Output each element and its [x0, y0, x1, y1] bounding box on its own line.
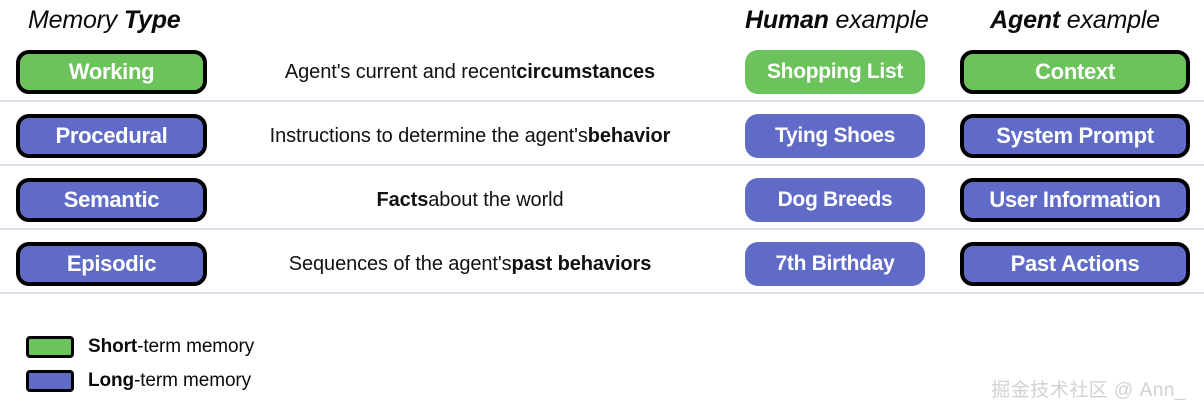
row-divider	[0, 100, 1204, 102]
legend-swatch-green	[26, 336, 74, 358]
row-divider	[0, 164, 1204, 166]
legend-label-short-bold: Short	[88, 336, 137, 357]
table-row: Semantic Facts about the world Dog Breed…	[0, 168, 1204, 232]
table-row: Procedural Instructions to determine the…	[0, 104, 1204, 168]
column-header-agent-bold: Agent	[990, 6, 1060, 34]
column-header-human-bold: Human	[745, 6, 829, 34]
row-divider	[0, 228, 1204, 230]
memory-type-pill: Working	[16, 50, 207, 94]
memory-description-plain: Sequences of the agent's	[289, 251, 512, 277]
column-header-human-normal: example	[835, 6, 928, 34]
memory-description-bold: Facts	[376, 187, 428, 213]
memory-description: Facts about the world	[215, 178, 725, 222]
column-header-memory-type-normal: Memory	[28, 6, 117, 34]
watermark: 掘金技术社区 @ Ann_	[991, 375, 1186, 402]
memory-description-plain: about the world	[428, 187, 563, 213]
agent-example-pill: Past Actions	[960, 242, 1190, 286]
table-row: Episodic Sequences of the agent's past b…	[0, 232, 1204, 296]
legend-label-long-rest: -term memory	[134, 370, 251, 391]
column-header-agent-example: Agent example	[960, 0, 1190, 40]
memory-description-plain: Agent's current and recent	[285, 59, 516, 85]
memory-description-bold: past behaviors	[511, 251, 651, 277]
memory-description-bold: behavior	[588, 123, 671, 149]
legend-label-long-bold: Long	[88, 370, 134, 391]
legend-label-short-term: Short-term memory	[88, 336, 254, 358]
column-header-memory-type: Memory Type	[28, 0, 180, 40]
column-header-memory-type-bold: Type	[124, 6, 181, 34]
agent-example-pill: System Prompt	[960, 114, 1190, 158]
memory-description: Agent's current and recent circumstances	[215, 50, 725, 94]
column-header-agent-normal: example	[1067, 6, 1160, 34]
agent-example-pill: User Information	[960, 178, 1190, 222]
legend-label-long-term: Long-term memory	[88, 370, 251, 392]
memory-description: Instructions to determine the agent's be…	[215, 114, 725, 158]
human-example-pill: Dog Breeds	[745, 178, 925, 222]
legend-item-long-term: Long-term memory	[26, 364, 446, 398]
table-header: Memory Type Human example Agent example	[0, 0, 1204, 40]
legend: Short-term memory Long-term memory	[26, 330, 446, 398]
memory-description-bold: circumstances	[516, 59, 655, 85]
memory-type-pill: Procedural	[16, 114, 207, 158]
column-header-human-example: Human example	[745, 0, 925, 40]
agent-example-pill: Context	[960, 50, 1190, 94]
memory-type-pill: Semantic	[16, 178, 207, 222]
human-example-pill: Tying Shoes	[745, 114, 925, 158]
memory-types-table: Memory Type Human example Agent example …	[0, 0, 1204, 416]
human-example-pill: Shopping List	[745, 50, 925, 94]
human-example-pill: 7th Birthday	[745, 242, 925, 286]
memory-description: Sequences of the agent's past behaviors	[215, 242, 725, 286]
table-row: Working Agent's current and recent circu…	[0, 40, 1204, 104]
legend-item-short-term: Short-term memory	[26, 330, 446, 364]
legend-label-short-rest: -term memory	[137, 336, 254, 357]
memory-description-plain: Instructions to determine the agent's	[270, 123, 588, 149]
memory-type-pill: Episodic	[16, 242, 207, 286]
row-divider	[0, 292, 1204, 294]
legend-swatch-purple	[26, 370, 74, 392]
